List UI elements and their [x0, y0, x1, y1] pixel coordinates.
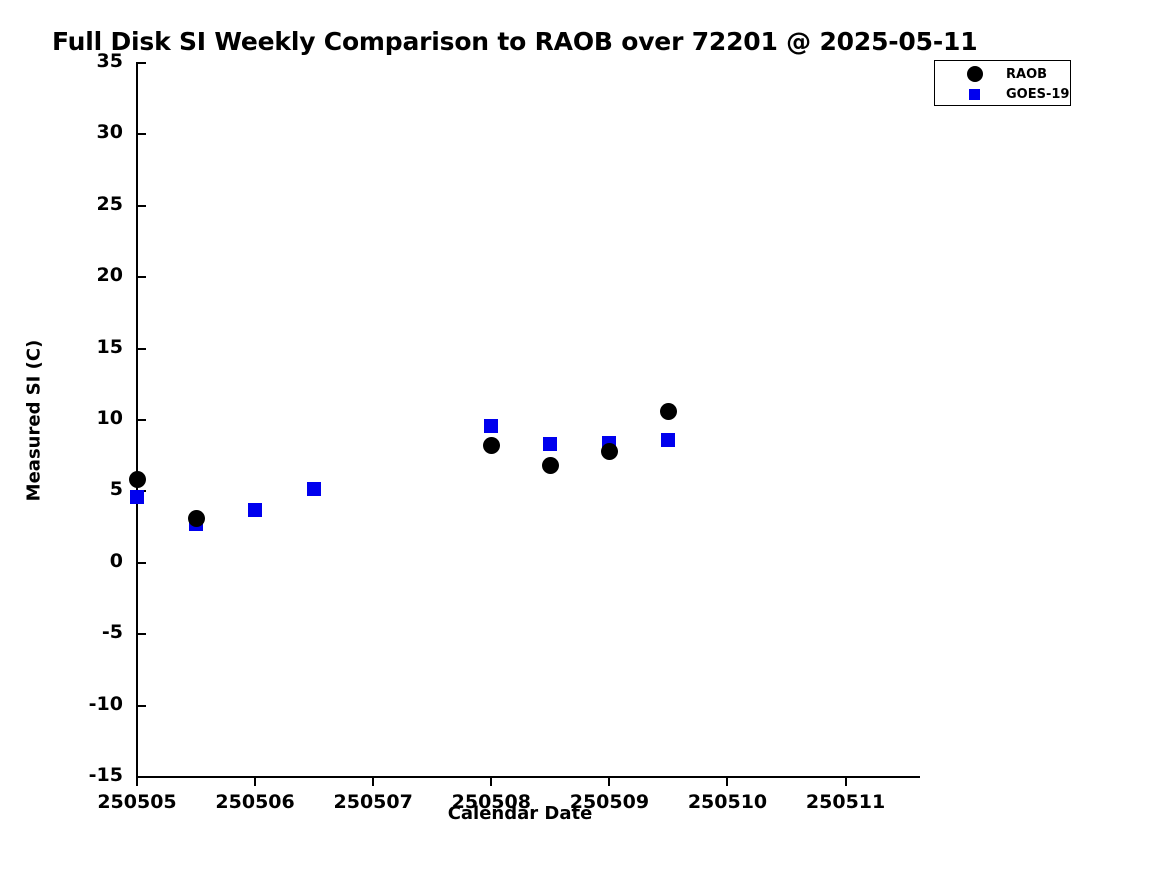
x-tick-mark [845, 777, 847, 786]
x-tick-mark [490, 777, 492, 786]
legend-entry-raob: RAOB [935, 64, 1070, 84]
data-point-raob [660, 403, 677, 420]
data-point-raob [542, 457, 559, 474]
x-axis-label: Calendar Date [0, 803, 1040, 824]
y-tick-mark [137, 705, 146, 707]
x-tick-mark [372, 777, 374, 786]
y-tick-label: -10 [0, 693, 123, 715]
y-tick-mark [137, 419, 146, 421]
legend-entry-goes-19: GOES-19 [935, 84, 1070, 104]
data-point-raob [188, 510, 205, 527]
y-tick-label: 20 [0, 264, 123, 286]
data-point-goes-19 [130, 490, 144, 504]
y-tick-mark [137, 633, 146, 635]
chart-title: Full Disk SI Weekly Comparison to RAOB o… [52, 27, 977, 56]
data-point-raob [129, 471, 146, 488]
legend-label: GOES-19 [1006, 87, 1069, 102]
y-tick-label: 5 [0, 478, 123, 500]
data-point-goes-19 [661, 433, 675, 447]
y-axis-label: Measured SI (C) [24, 0, 45, 861]
data-point-raob [601, 443, 618, 460]
y-tick-mark [137, 348, 146, 350]
y-tick-mark [137, 562, 146, 564]
data-point-raob [483, 437, 500, 454]
y-tick-label: 15 [0, 336, 123, 358]
legend-marker-circle-icon [963, 64, 985, 84]
legend-label: RAOB [1006, 67, 1047, 82]
y-tick-label: 10 [0, 407, 123, 429]
y-tick-label: 35 [0, 50, 123, 72]
data-point-goes-19 [307, 482, 321, 496]
y-tick-mark [137, 133, 146, 135]
y-tick-label: 30 [0, 121, 123, 143]
x-tick-mark [726, 777, 728, 786]
plot-area: -15-10-505101520253035 25050525050625050… [137, 63, 920, 777]
y-tick-mark [137, 776, 146, 778]
chart-figure: Full Disk SI Weekly Comparison to RAOB o… [0, 0, 1167, 875]
legend-marker-square-icon [963, 84, 985, 104]
data-point-goes-19 [543, 437, 557, 451]
y-tick-mark [137, 205, 146, 207]
x-tick-mark [608, 777, 610, 786]
x-tick-mark [136, 777, 138, 786]
data-point-goes-19 [484, 419, 498, 433]
data-point-goes-19 [248, 503, 262, 517]
y-tick-mark [137, 276, 146, 278]
y-tick-label: -5 [0, 621, 123, 643]
x-tick-mark [254, 777, 256, 786]
chart-legend: RAOBGOES-19 [934, 60, 1071, 106]
y-tick-label: -15 [0, 764, 123, 786]
y-tick-mark [137, 62, 146, 64]
y-tick-label: 0 [0, 550, 123, 572]
y-tick-label: 25 [0, 193, 123, 215]
